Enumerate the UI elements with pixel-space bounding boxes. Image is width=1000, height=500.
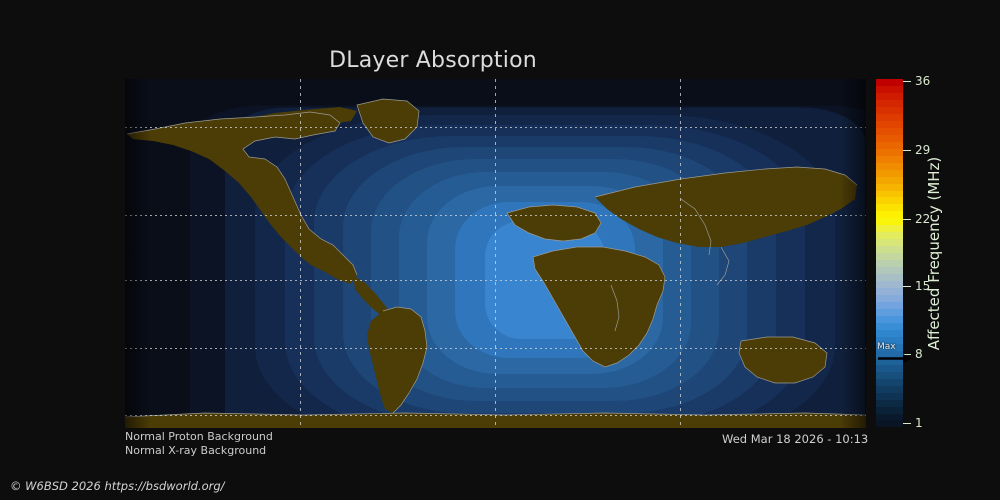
colorbar-segment xyxy=(876,379,903,386)
colorbar-segment xyxy=(876,260,903,267)
xray-background-note: Normal X-ray Background xyxy=(125,444,266,457)
colorbar-segment xyxy=(876,420,903,427)
timestamp: Wed Mar 18 2026 - 10:13 xyxy=(722,432,868,446)
colorbar-segment xyxy=(876,281,903,288)
colorbar-segment xyxy=(876,177,903,184)
colorbar-segment xyxy=(876,316,903,323)
colorbar-segment xyxy=(876,135,903,142)
colorbar-segment xyxy=(876,86,903,93)
footer-credit: © W6BSD 2026 https://bsdworld.org/ xyxy=(10,479,225,493)
absorption-map[interactable] xyxy=(125,79,866,428)
page-title: DLayer Absorption xyxy=(0,48,866,73)
colorbar-max-marker: Max xyxy=(876,343,936,365)
colorbar-segment xyxy=(876,302,903,309)
colorbar-segment xyxy=(876,407,903,414)
colorbar-segment xyxy=(876,386,903,393)
max-marker-label: Max xyxy=(877,342,896,352)
colorbar-segment xyxy=(876,330,903,337)
colorbar-segment xyxy=(876,274,903,281)
colorbar-segment xyxy=(876,267,903,274)
colorbar-segment xyxy=(876,149,903,156)
colorbar-segment xyxy=(876,197,903,204)
screenshot-root: DLayer Absorption xyxy=(0,0,1000,500)
colorbar-segment xyxy=(876,191,903,198)
colorbar-segment xyxy=(876,170,903,177)
colorbar-segment xyxy=(876,323,903,330)
colorbar-segment xyxy=(876,400,903,407)
longitude-gridline xyxy=(495,79,496,428)
colorbar-segment xyxy=(876,232,903,239)
colorbar-segment xyxy=(876,211,903,218)
colorbar-segment xyxy=(876,163,903,170)
colorbar-segment xyxy=(876,128,903,135)
colorbar-segment xyxy=(876,121,903,128)
tick-dash xyxy=(903,286,911,287)
colorbar-segment xyxy=(876,365,903,372)
colorbar-segment xyxy=(876,156,903,163)
colorbar-segment xyxy=(876,372,903,379)
colorbar-segment xyxy=(876,100,903,107)
colorbar-segment xyxy=(876,295,903,302)
colorbar-segment xyxy=(876,393,903,400)
colorbar-segment xyxy=(876,414,903,421)
colorbar-segment xyxy=(876,225,903,232)
tick-dash xyxy=(903,219,911,220)
proton-background-note: Normal Proton Background xyxy=(125,430,273,443)
tick-dash xyxy=(903,81,911,82)
tick-dash xyxy=(903,423,911,424)
longitude-gridline xyxy=(300,79,301,428)
colorbar-segment xyxy=(876,114,903,121)
tick-dash xyxy=(903,150,911,151)
colorbar-segment xyxy=(876,288,903,295)
colorbar-segment xyxy=(876,218,903,225)
colorbar-segment xyxy=(876,309,903,316)
longitude-gridline xyxy=(680,79,681,428)
colorbar-gradient[interactable] xyxy=(876,79,903,428)
colorbar-segment xyxy=(876,142,903,149)
colorbar-segment xyxy=(876,107,903,114)
colorbar-segment xyxy=(876,184,903,191)
colorbar-segment xyxy=(876,253,903,260)
arrow-right-icon xyxy=(878,354,912,363)
colorbar-segment xyxy=(876,79,903,86)
colorbar-segment xyxy=(876,239,903,246)
colorbar-segment xyxy=(876,93,903,100)
colorbar-segment xyxy=(876,246,903,253)
colorbar-segment xyxy=(876,204,903,211)
colorbar-axis-label: Affected Frequency (MHz) xyxy=(920,79,947,428)
